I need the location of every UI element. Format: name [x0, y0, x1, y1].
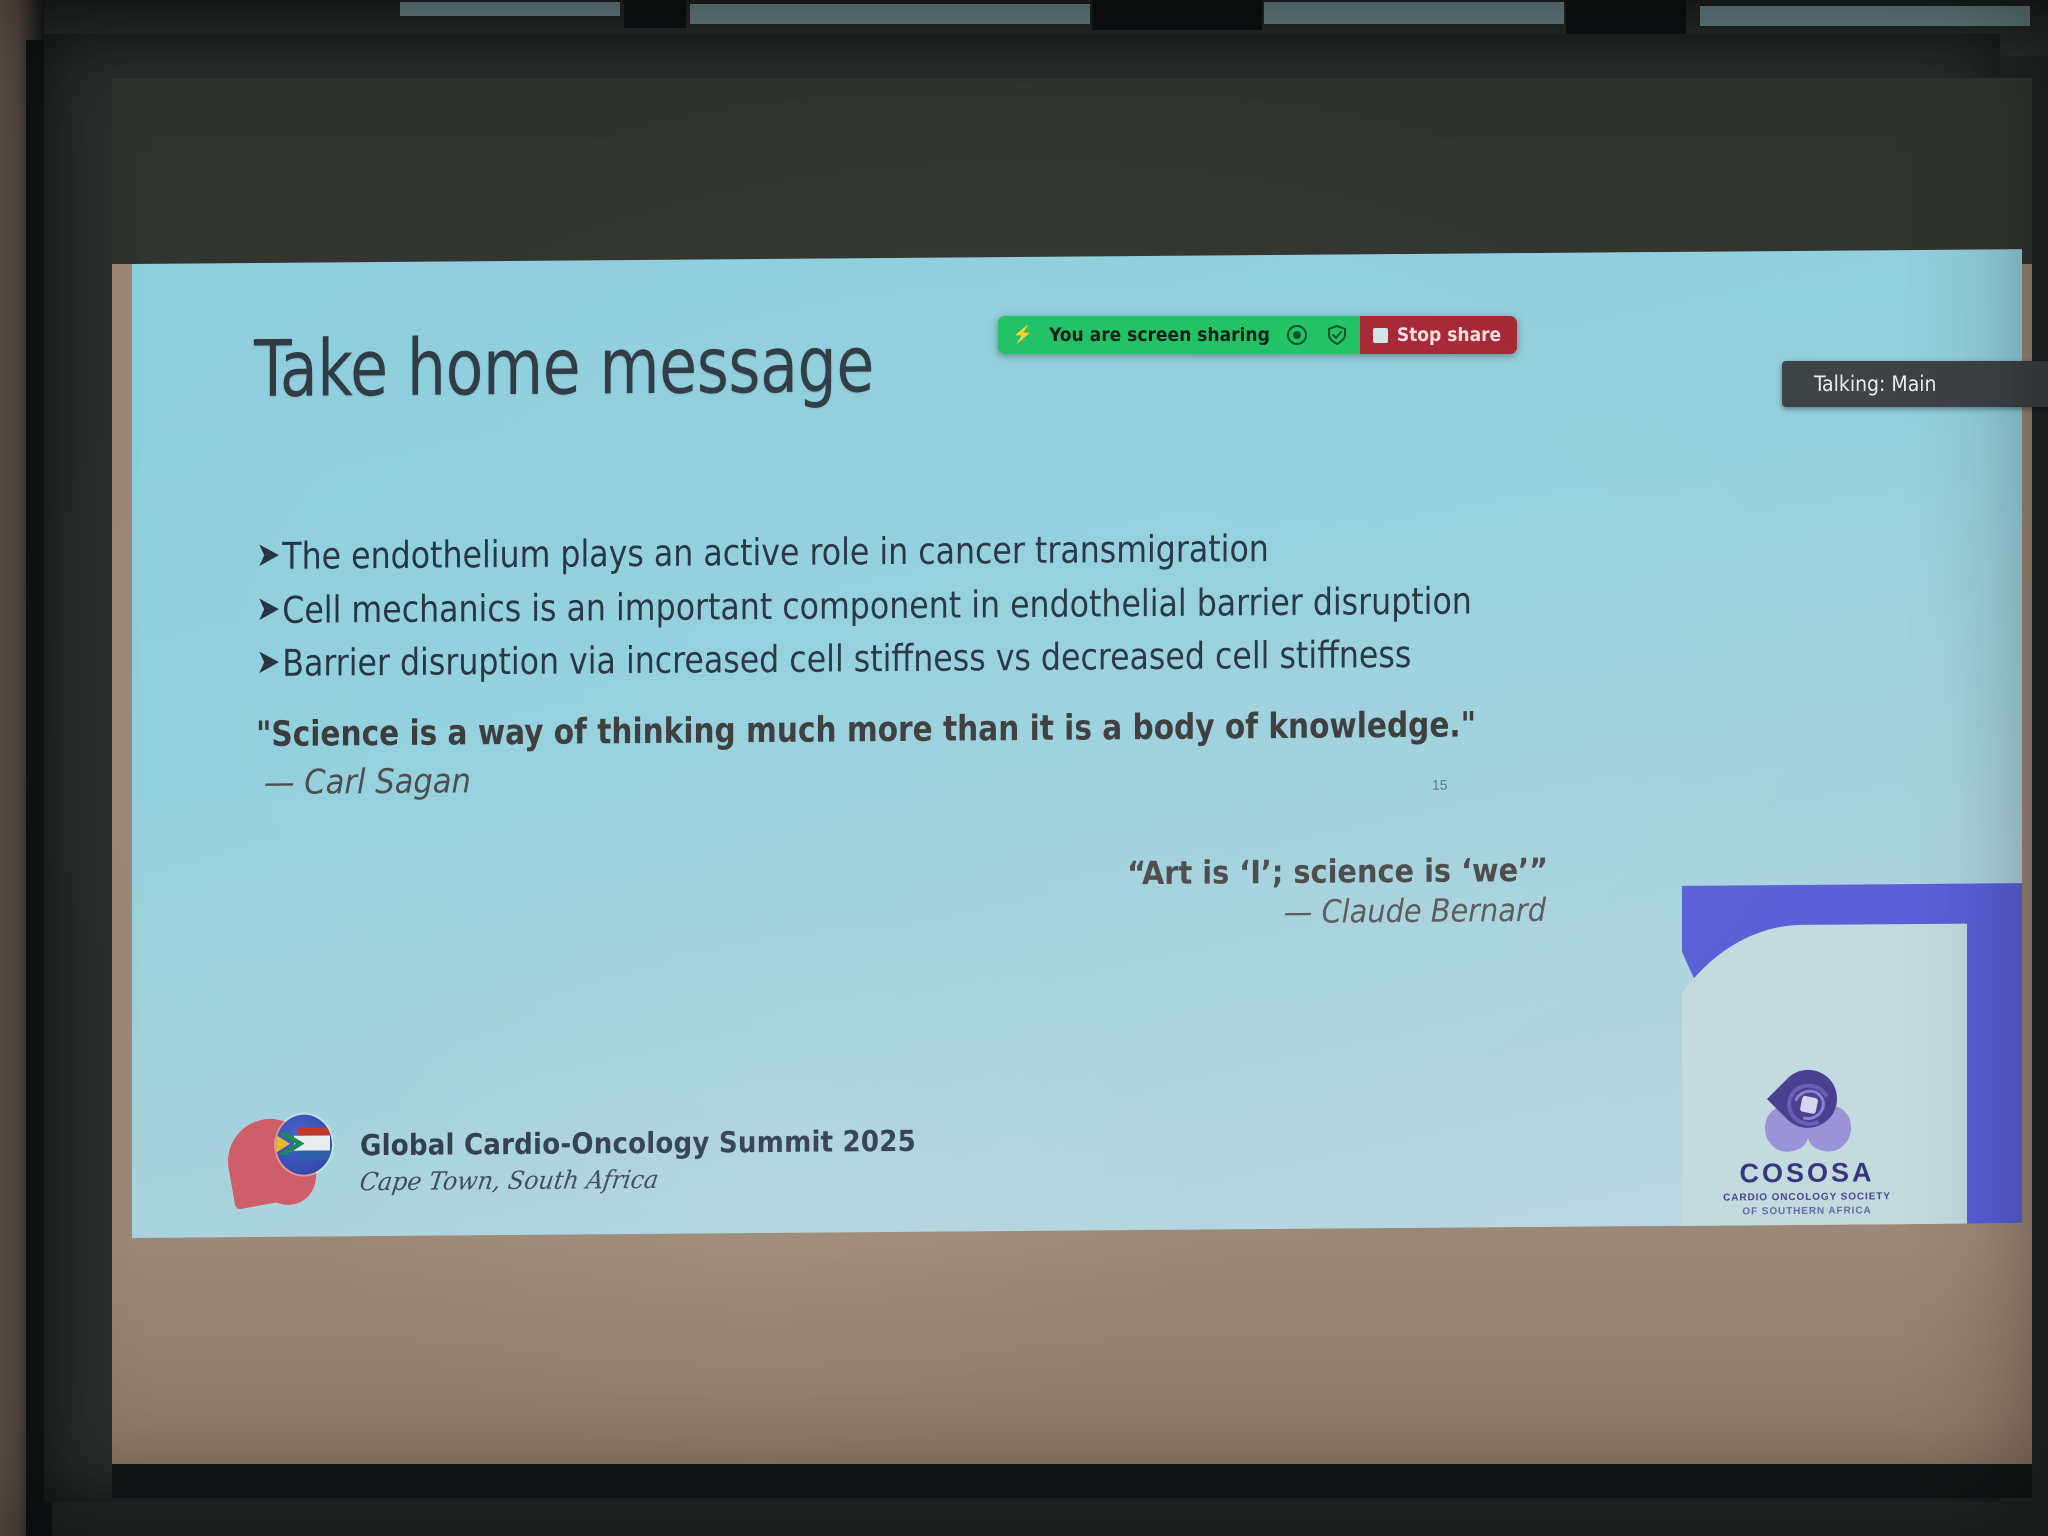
record-dot-icon[interactable] [1284, 322, 1310, 348]
stop-square-icon [1373, 328, 1388, 343]
summit-title: Global Cardio-Oncology Summit 2025 [360, 1124, 916, 1162]
arrow-bullet-icon: ➤ [256, 535, 280, 575]
cososa-name: COSOSA [1712, 1157, 1902, 1189]
talking-indicator: Talking: Main [1782, 361, 2048, 407]
projector-screen-frame: Take home message ➤ The endothelium play… [44, 34, 2000, 1502]
screen-share-status: ⚡ You are screen sharing [998, 316, 1360, 354]
bullet-list: ➤ The endothelium plays an active role i… [256, 525, 1556, 696]
stop-share-label: Stop share [1397, 324, 1501, 346]
cososa-heart-in-hands-icon [1753, 1067, 1861, 1160]
ceiling-gap-2 [1092, 0, 1262, 30]
screen-unlit-top [112, 78, 2032, 264]
shield-check-icon[interactable] [1324, 322, 1350, 348]
summit-logo-mark [226, 1112, 344, 1213]
summit-branding: Global Cardio-Oncology Summit 2025 Cape … [226, 1108, 916, 1213]
ceiling-gap-3 [1566, 0, 1686, 34]
bullet-item-3: ➤ Barrier disruption via increased cell … [256, 633, 1491, 686]
ceiling-light-panel-4 [1700, 6, 2030, 26]
screen-bottom-edge [112, 1464, 2032, 1498]
talking-label: Talking: Main [1782, 372, 1937, 396]
screen-unlit-bottom [112, 1238, 2032, 1498]
bernard-quote-text: “Art is ‘I’; science is ‘we’” [1127, 851, 1548, 892]
ceiling-light-panel-2 [690, 4, 1090, 24]
bullet-text: The endothelium plays an active role in … [282, 527, 1269, 578]
cososa-branding: COSOSA CARDIO ONCOLOGY SOCIETY OF SOUTHE… [1712, 1067, 1902, 1217]
slide-title: Take home message [254, 320, 874, 415]
screen-share-banner[interactable]: ⚡ You are screen sharing [998, 316, 1517, 354]
presentation-slide: Take home message ➤ The endothelium play… [132, 249, 2022, 1238]
screen-share-label: You are screen sharing [1049, 324, 1270, 346]
bullet-item-2: ➤ Cell mechanics is an important compone… [256, 579, 1491, 632]
cososa-tagline-line1: CARDIO ONCOLOGY SOCIETY [1712, 1191, 1902, 1203]
cososa-tagline-line2: OF SOUTHERN AFRICA [1712, 1205, 1902, 1217]
stop-share-button[interactable]: Stop share [1360, 316, 1517, 354]
sagan-quote-text: "Science is a way of thinking much more … [256, 705, 1476, 755]
bernard-attribution: — Claude Bernard [1284, 891, 1546, 931]
bullet-item-1: ➤ The endothelium plays an active role i… [256, 525, 1491, 578]
conference-room-background: Take home message ➤ The endothelium play… [0, 0, 2048, 1536]
ceiling-light-panel-3 [1264, 2, 1564, 24]
arrow-bullet-icon: ➤ [256, 642, 280, 682]
ceiling-light-panel-1 [400, 2, 620, 16]
bullet-text: Barrier disruption via increased cell st… [282, 633, 1411, 686]
projector-screen-surface: Take home message ➤ The endothelium play… [112, 78, 2032, 1498]
south-africa-flag-globe-icon [276, 1114, 332, 1174]
sagan-attribution: — Carl Sagan [264, 761, 471, 803]
slide-number: 15 [1432, 777, 1448, 793]
bullet-text: Cell mechanics is an important component… [282, 579, 1472, 632]
lightning-bolt-icon: ⚡ [1012, 325, 1033, 345]
arrow-bullet-icon: ➤ [256, 588, 280, 628]
summit-location: Cape Town, South Africa [358, 1163, 890, 1196]
ceiling-gap-1 [624, 0, 686, 28]
